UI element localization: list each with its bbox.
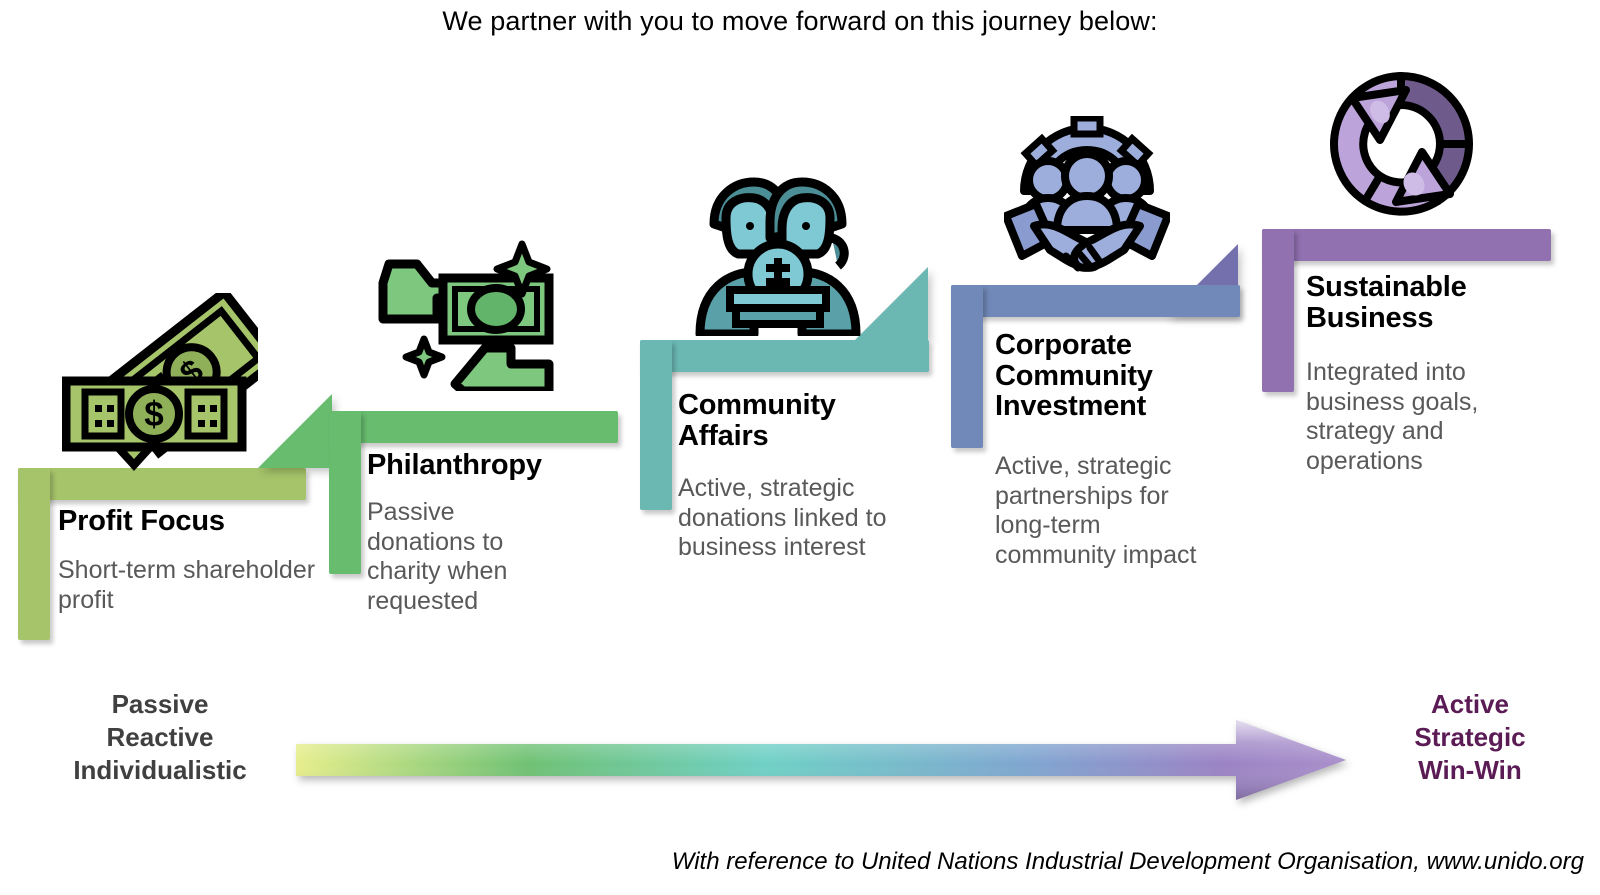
progress-arrow <box>296 720 1346 800</box>
step-3-title: Community Affairs <box>678 390 928 451</box>
step-3-bracket-top <box>640 340 929 372</box>
step-2-description: Passive donations to charity when reques… <box>367 498 567 616</box>
step-4-bracket-top <box>951 285 1240 317</box>
hand-giving-money-icon <box>377 236 562 396</box>
step-4-title: Corporate Community Investment <box>995 330 1210 422</box>
step-1-description: Short-term shareholder profit <box>58 556 316 615</box>
step-3-bracket-left <box>640 340 672 510</box>
step-1-riser <box>258 394 332 468</box>
step-5-title: Sustainable Business <box>1306 272 1516 333</box>
handshake-team-icon <box>1004 116 1170 284</box>
arrow-left-label: PassiveReactiveIndividualistic <box>20 688 300 787</box>
banknotes-icon: $ $ <box>62 293 258 483</box>
arrow-right-label: ActiveStrategicWin-Win <box>1360 688 1580 787</box>
svg-text:$: $ <box>144 395 163 434</box>
circular-arrows-icon <box>1318 62 1484 235</box>
step-4-description: Active, strategic partnerships for long-… <box>995 452 1220 570</box>
source-attribution: With reference to United Nations Industr… <box>0 848 1584 876</box>
step-1-title: Profit Focus <box>58 506 308 537</box>
step-4-bracket-left <box>951 285 983 448</box>
journey-staircase: Profit Focus Short-term shareholder prof… <box>0 0 1600 660</box>
step-5-bracket-left <box>1262 229 1294 392</box>
step-3-description: Active, strategic donations linked to bu… <box>678 474 913 563</box>
maturity-arrow-row: PassiveReactiveIndividualistic ActiveStr… <box>0 660 1600 820</box>
step-2-bracket-left <box>329 411 361 574</box>
two-people-coin-icon <box>692 176 864 341</box>
step-5-description: Integrated into business goals, strategy… <box>1306 358 1521 476</box>
step-1-bracket-left <box>18 468 50 640</box>
step-2-riser <box>855 267 928 340</box>
step-2-bracket-top <box>329 411 618 443</box>
step-2-title: Philanthropy <box>367 450 629 481</box>
